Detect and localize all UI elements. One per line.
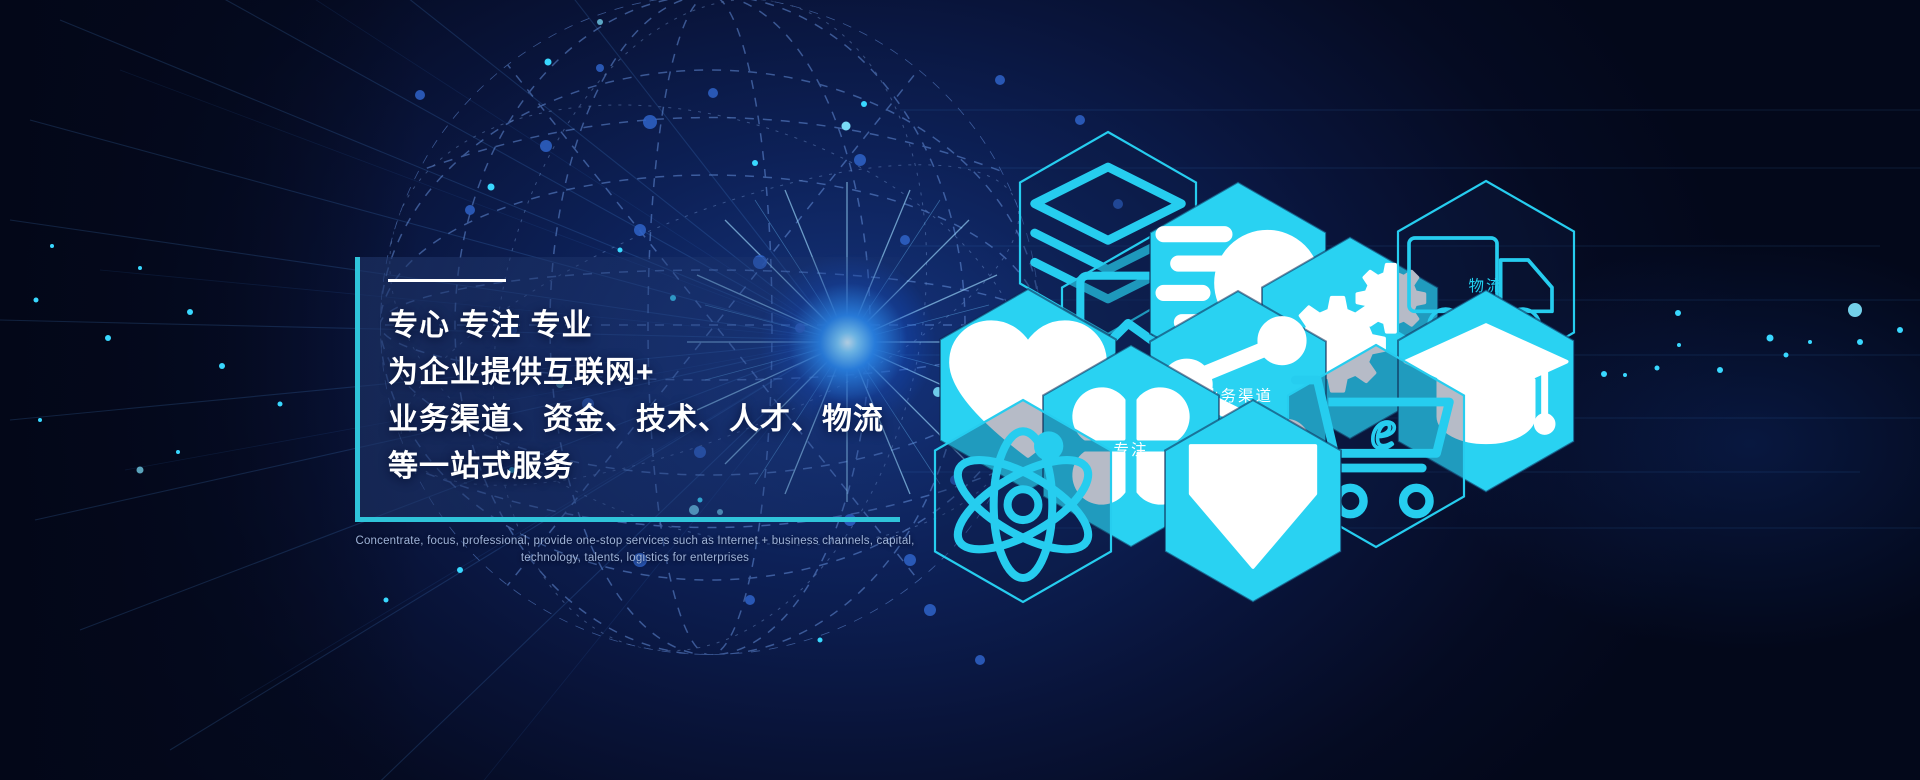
hexagon-professional[interactable]: 专业 bbox=[1165, 400, 1341, 602]
hexagon-cluster: 资金 技术 物流 专心 业务渠道 人才 专注 e 专业 bbox=[0, 0, 1920, 780]
banner-stage: 专心 专注 专业 为企业提供互联网+ 业务渠道、资金、技术、人才、物流 等一站式… bbox=[0, 0, 1920, 780]
hexagon-science[interactable] bbox=[935, 400, 1111, 602]
